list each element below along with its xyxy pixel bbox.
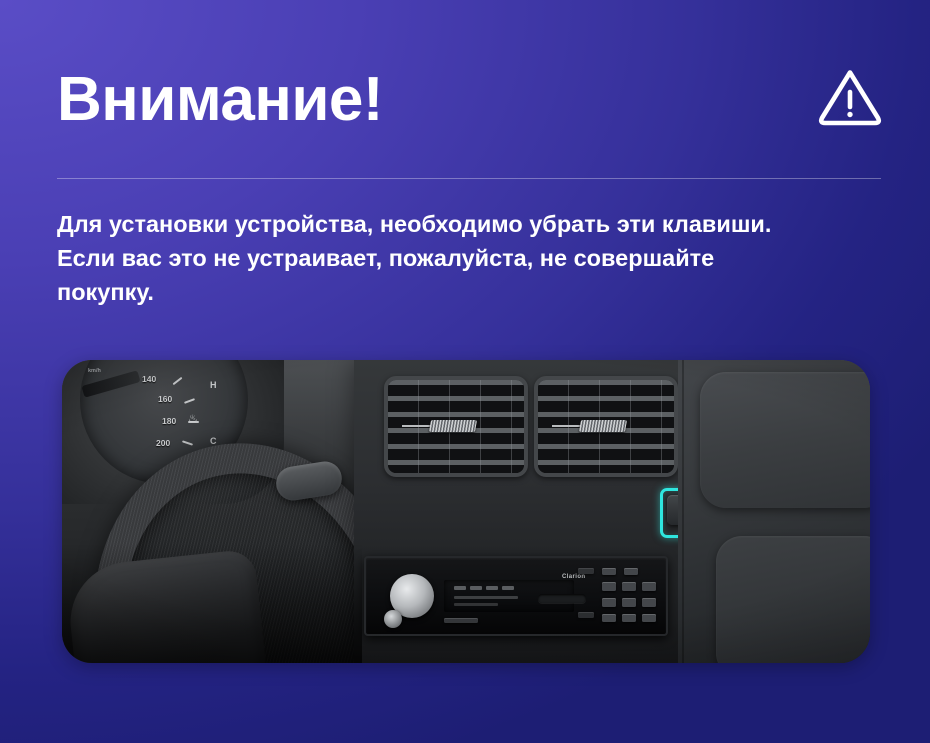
body-line-2: Если вас это не устраивает, пожалуйста, … — [57, 241, 877, 275]
radio-brand-label: Clarion — [562, 574, 585, 580]
radio-preset-9[interactable] — [602, 614, 616, 622]
radio-preset-2[interactable] — [624, 568, 638, 575]
radio-preset-3[interactable] — [602, 582, 616, 591]
gauge-tick-200: 200 — [156, 438, 170, 448]
radio-preset-4[interactable] — [622, 582, 636, 591]
center-console: Clarion — [354, 360, 686, 663]
radio-preset-7[interactable] — [622, 598, 636, 607]
radio-preset-11[interactable] — [642, 614, 656, 622]
page-title: Внимание! — [57, 52, 383, 148]
dashboard-photo: km/h 140 160 180 200 H C ♨ — [62, 360, 870, 663]
glovebox-panel — [716, 536, 870, 663]
vent-wheel-icon[interactable] — [579, 420, 627, 432]
header-divider — [57, 178, 881, 179]
vent-wheel-icon[interactable] — [429, 420, 477, 432]
dashboard-upper-panel — [700, 372, 870, 508]
radio-mode-button[interactable] — [578, 568, 594, 574]
air-vent-left — [384, 376, 528, 477]
radio-preset-5[interactable] — [642, 582, 656, 591]
gauge-tick-160: 160 — [158, 394, 172, 404]
banner-body-text: Для установки устройства, необходимо убр… — [57, 207, 877, 309]
speed-unit-label: km/h — [88, 368, 101, 374]
air-vent-right — [534, 376, 678, 477]
gauge-needle — [81, 370, 140, 398]
radio-preset-8[interactable] — [642, 598, 656, 607]
radio-preset-1[interactable] — [602, 568, 616, 575]
car-stereo-head-unit[interactable]: Clarion — [364, 556, 668, 636]
radio-preset-10[interactable] — [622, 614, 636, 622]
warning-banner: Внимание! Для установки устройства, необ… — [0, 0, 930, 743]
photo-lower-shadow — [62, 543, 362, 663]
passenger-dashboard — [678, 360, 870, 663]
coolant-temp-icon: ♨ — [188, 412, 198, 425]
banner-header: Внимание! — [57, 52, 885, 148]
body-line-3: покупку. — [57, 275, 877, 309]
radio-bottom-bar[interactable] — [444, 618, 478, 623]
cd-slot[interactable] — [538, 594, 586, 603]
gauge-temp-h: H — [210, 380, 217, 390]
gauge-tick-140: 140 — [142, 374, 156, 384]
warning-triangle-icon — [817, 66, 883, 128]
body-line-1: Для установки устройства, необходимо убр… — [57, 207, 877, 241]
radio-preset-6[interactable] — [602, 598, 616, 607]
radio-band-button[interactable] — [578, 612, 594, 618]
gauge-tick-180: 180 — [162, 416, 176, 426]
secondary-knob[interactable] — [384, 610, 402, 628]
